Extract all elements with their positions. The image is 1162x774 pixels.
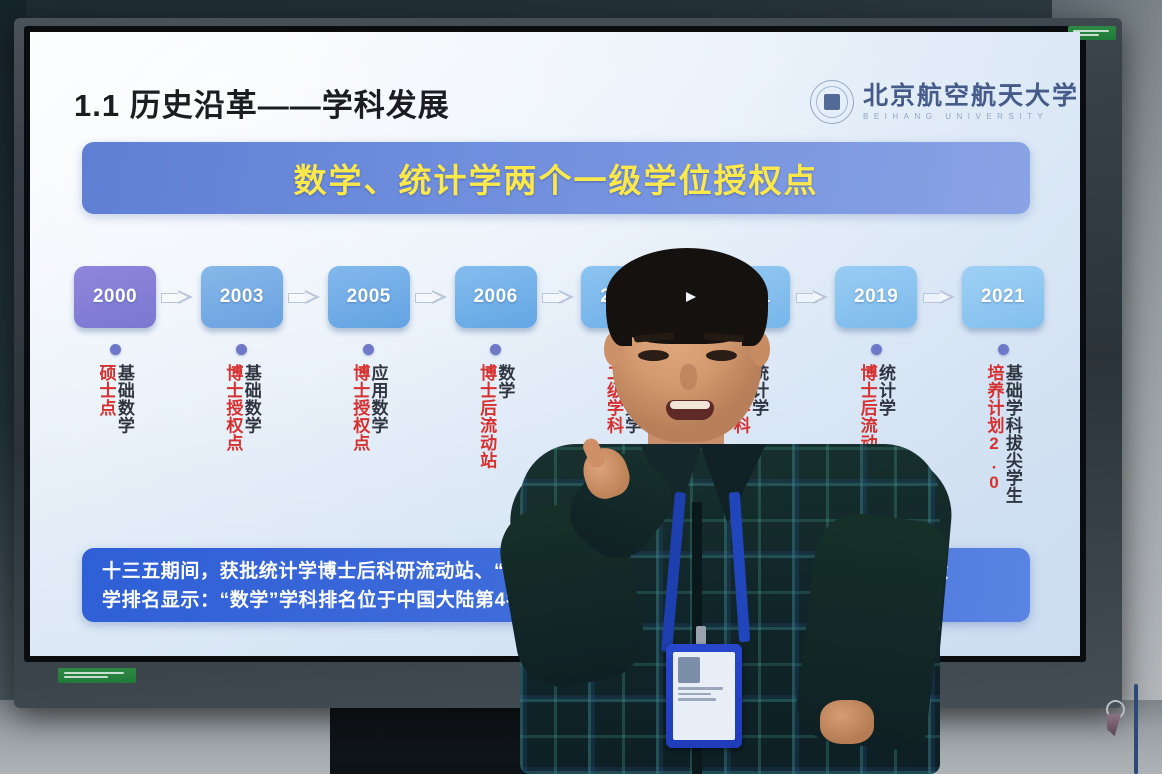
timeline-year-label: 2000 bbox=[93, 286, 137, 308]
timeline-label-main: 基础数学 bbox=[242, 364, 259, 452]
timeline-bullet-dot bbox=[236, 344, 247, 355]
timeline-label-pair: 应用数学博士授权点 bbox=[351, 364, 387, 452]
timeline-label-col-2000: 基础数学硕士点 bbox=[74, 344, 156, 534]
asset-sticker-bottom-left bbox=[58, 668, 136, 683]
timeline-bullet-dot bbox=[363, 344, 374, 355]
timeline-label-sub: 博士后流动站 bbox=[478, 364, 495, 469]
timeline-label-main: 数学 bbox=[496, 364, 513, 469]
logo-text-block: 北京航空航天大学 BEIHANG UNIVERSITY bbox=[863, 84, 1079, 121]
timeline-label-pair: 基础数学硕士点 bbox=[97, 364, 133, 434]
timeline-year-box-2003: 2003 bbox=[201, 266, 283, 328]
timeline-label-pair: 数学博士后流动站 bbox=[478, 364, 514, 469]
id-badge-holder bbox=[666, 644, 742, 748]
university-logo: 北京航空航天大学 BEIHANG UNIVERSITY bbox=[810, 80, 1079, 124]
logo-english-name: BEIHANG UNIVERSITY bbox=[863, 113, 1079, 121]
screenshot-root: MAXHUB 1.1 历史沿革——学科发展 北京航空航天大学 BEIHANG U… bbox=[0, 0, 1162, 774]
timeline-label-col-2005: 应用数学博士授权点 bbox=[328, 344, 410, 534]
timeline-label-main: 应用数学 bbox=[369, 364, 386, 452]
logo-chinese-name: 北京航空航天大学 bbox=[863, 84, 1079, 109]
headline-text: 数学、统计学两个一级学位授权点 bbox=[294, 154, 819, 202]
presenter-teeth bbox=[670, 401, 710, 409]
wall-hook bbox=[1102, 700, 1128, 744]
timeline-year-label: 2021 bbox=[981, 286, 1025, 308]
presenter-eye-left bbox=[638, 350, 669, 361]
id-badge-card bbox=[673, 652, 735, 740]
label-spacer bbox=[283, 344, 328, 534]
headline-banner: 数学、统计学两个一级学位授权点 bbox=[82, 142, 1030, 214]
label-spacer bbox=[156, 344, 201, 534]
timeline-year-box-2000: 2000 bbox=[74, 266, 156, 328]
seal-emblem-icon bbox=[810, 80, 854, 124]
timeline-label-col-2021: 基础学科拔尖学生培养计划2.0 bbox=[962, 344, 1044, 534]
timeline-year-label: 2005 bbox=[347, 286, 391, 308]
hook-body-icon bbox=[1107, 714, 1121, 736]
timeline-year-box-2005: 2005 bbox=[328, 266, 410, 328]
timeline-bullet-dot bbox=[110, 344, 121, 355]
timeline-bullet-dot bbox=[490, 344, 501, 355]
timeline-label-col-2003: 基础数学博士授权点 bbox=[201, 344, 283, 534]
timeline-label-main: 基础学科拔尖学生 bbox=[1004, 364, 1021, 504]
timeline-arrow-2 bbox=[283, 290, 328, 305]
timeline-label-sub: 硕士点 bbox=[97, 364, 114, 434]
timeline-year-box-2021: 2021 bbox=[962, 266, 1044, 328]
presenter-nose bbox=[680, 364, 697, 390]
arrow-right-icon bbox=[415, 290, 449, 305]
arrow-right-icon bbox=[288, 290, 322, 305]
id-badge-photo bbox=[678, 657, 700, 683]
timeline-year-label: 2003 bbox=[220, 286, 264, 308]
timeline-arrow-1 bbox=[156, 290, 201, 305]
timeline-label-sub: 博士授权点 bbox=[224, 364, 241, 452]
arrow-right-icon bbox=[161, 290, 195, 305]
timeline-label-main: 基础数学 bbox=[116, 364, 133, 434]
presenter-hand-on-hip bbox=[820, 700, 874, 744]
timeline-label-pair: 基础学科拔尖学生培养计划2.0 bbox=[985, 364, 1021, 504]
label-spacer bbox=[410, 344, 455, 534]
timeline-label-sub: 博士授权点 bbox=[351, 364, 368, 452]
wall-cable bbox=[1134, 684, 1138, 774]
seal-core-icon bbox=[824, 94, 840, 110]
timeline-year-label: 2006 bbox=[473, 286, 517, 308]
presenter-eye-right bbox=[706, 350, 737, 361]
timeline-label-pair: 基础数学博士授权点 bbox=[224, 364, 260, 452]
timeline-bullet-dot bbox=[998, 344, 1009, 355]
slide-title: 1.1 历史沿革——学科发展 bbox=[74, 80, 450, 125]
timeline-arrow-3 bbox=[410, 290, 455, 305]
presenter-figure bbox=[520, 248, 940, 774]
timeline-label-sub: 培养计划2.0 bbox=[985, 364, 1002, 504]
